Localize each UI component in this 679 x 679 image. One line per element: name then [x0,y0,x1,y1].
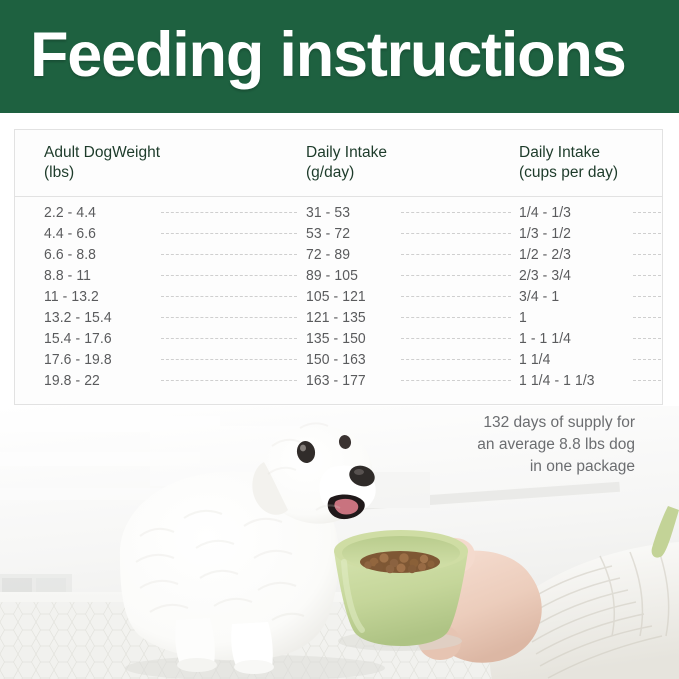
column-header-grams: Daily Intake (g/day) [306,143,387,183]
cell-weight: 4.4 - 6.6 [44,223,96,244]
column-header-cups: Daily Intake (cups per day) [519,143,618,183]
cell-grams: 31 - 53 [306,202,350,223]
leader-dots [633,233,661,234]
table-row: 11 - 13.2 105 - 121 3/4 - 1 [15,286,662,307]
leader-dots [633,296,661,297]
table-row: 2.2 - 4.4 31 - 53 1/4 - 1/3 [15,202,662,223]
dog-eye-left-highlight [300,445,306,452]
leader-dots [401,212,511,213]
leader-dots [401,254,511,255]
table-row: 15.4 - 17.6 135 - 150 1 - 1 1/4 [15,328,662,349]
leader-dots [161,233,297,234]
supply-note: 132 days of supply for an average 8.8 lb… [375,412,635,478]
leader-dots [161,338,297,339]
cell-grams: 89 - 105 [306,265,358,286]
leader-dots [161,254,297,255]
leader-dots [161,275,297,276]
cell-cups: 1/2 - 2/3 [519,244,571,265]
cell-grams: 53 - 72 [306,223,350,244]
leader-dots [401,338,511,339]
leader-dots [161,212,297,213]
leader-dots [401,317,511,318]
supply-note-line-2: an average 8.8 lbs dog [375,434,635,456]
leader-dots [401,380,511,381]
cell-cups: 1/4 - 1/3 [519,202,571,223]
cell-grams: 163 - 177 [306,370,366,391]
leader-dots [161,317,297,318]
supply-note-line-1: 132 days of supply for [375,412,635,434]
cell-weight: 15.4 - 17.6 [44,328,112,349]
dog-paw-right [234,660,274,674]
leader-dots [633,380,661,381]
feeding-table: Adult DogWeight (lbs) Daily Intake (g/da… [14,129,663,405]
dog-paw-left [177,658,217,672]
cell-cups: 2/3 - 3/4 [519,265,571,286]
leader-dots [633,338,661,339]
leader-dots [401,359,511,360]
table-row: 19.8 - 22 163 - 177 1 1/4 - 1 1/3 [15,370,662,391]
leader-dots [633,359,661,360]
cell-cups: 1 - 1 1/4 [519,328,571,349]
cell-cups: 1 1/4 [519,349,551,370]
cell-cups: 1 1/4 - 1 1/3 [519,370,595,391]
leader-dots [161,380,297,381]
dog-front-leg-left [175,618,215,664]
cell-weight: 11 - 13.2 [44,286,99,307]
leader-dots [401,296,511,297]
cell-weight: 6.6 - 8.8 [44,244,96,265]
feeding-instructions-page: Feeding instructions Adult DogWeight (lb… [0,0,679,679]
leader-dots [633,254,661,255]
cell-cups: 1/3 - 1/2 [519,223,571,244]
leader-dots [633,275,661,276]
table-body: 2.2 - 4.4 31 - 53 1/4 - 1/3 4.4 - 6.6 53… [15,197,662,391]
cell-grams: 135 - 150 [306,328,366,349]
leader-dots [633,317,661,318]
cell-weight: 19.8 - 22 [44,370,100,391]
table-row: 13.2 - 15.4 121 - 135 1 [15,307,662,328]
supply-note-line-3: in one package [375,456,635,478]
table-header-row: Adult DogWeight (lbs) Daily Intake (g/da… [15,130,662,197]
column-header-weight: Adult DogWeight (lbs) [44,143,160,183]
leader-dots [401,275,511,276]
leader-dots [161,296,297,297]
cell-grams: 150 - 163 [306,349,366,370]
leader-dots [401,233,511,234]
cell-cups: 3/4 - 1 [519,286,559,307]
cell-weight: 17.6 - 19.8 [44,349,112,370]
table-row: 6.6 - 8.8 72 - 89 1/2 - 2/3 [15,244,662,265]
cell-weight: 8.8 - 11 [44,265,91,286]
cell-grams: 72 - 89 [306,244,350,265]
leader-dots [161,359,297,360]
table-row: 17.6 - 19.8 150 - 163 1 1/4 [15,349,662,370]
cell-weight: 2.2 - 4.4 [44,202,96,223]
dog-nose-highlight [354,469,364,475]
cell-weight: 13.2 - 15.4 [44,307,112,328]
table-row: 8.8 - 11 89 - 105 2/3 - 3/4 [15,265,662,286]
cell-grams: 105 - 121 [306,286,366,307]
dog-front-leg-right [231,622,273,666]
page-title: Feeding instructions [30,16,626,94]
header-banner: Feeding instructions [0,0,679,113]
cell-grams: 121 - 135 [306,307,366,328]
leader-dots [633,212,661,213]
table-row: 4.4 - 6.6 53 - 72 1/3 - 1/2 [15,223,662,244]
cell-cups: 1 [519,307,527,328]
